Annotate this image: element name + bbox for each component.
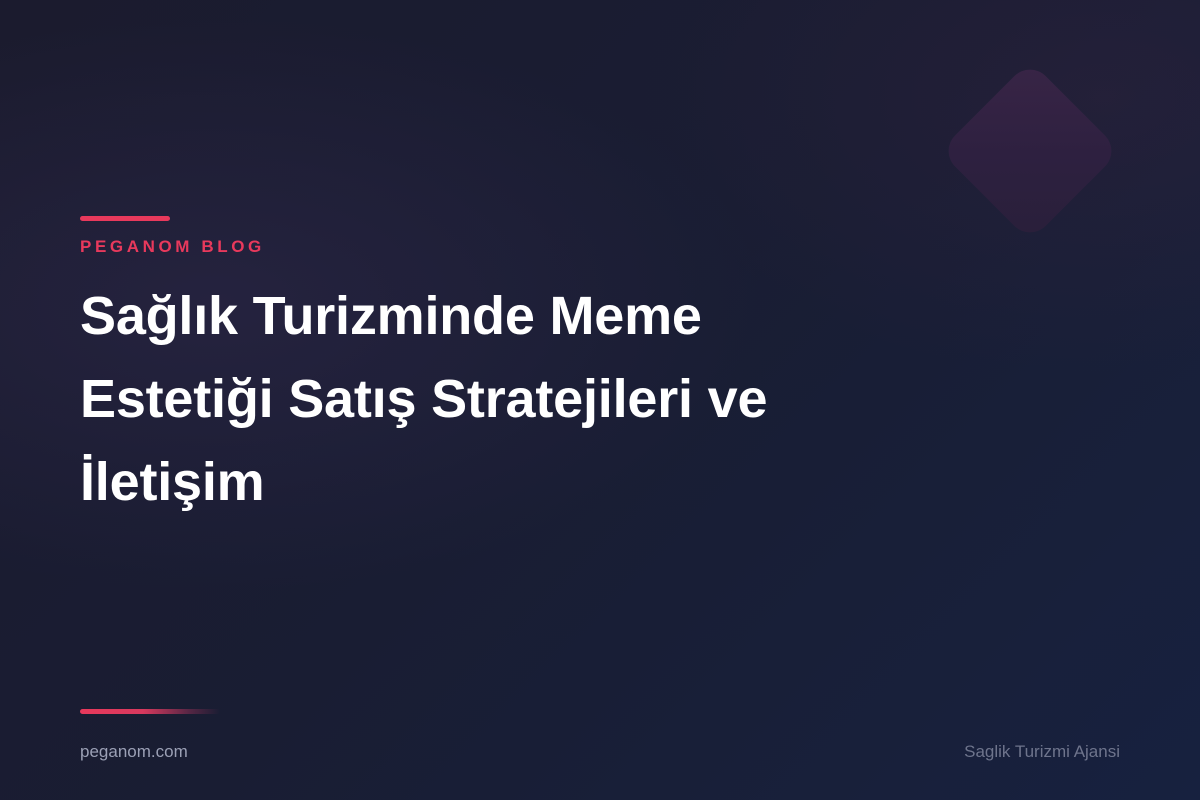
card-footer: peganom.com Saglik Turizmi Ajansi: [80, 709, 1120, 762]
footer-accent-bar: [80, 709, 220, 714]
blog-header-card: PEGANOM BLOG Sağlık Turizminde Meme Este…: [0, 0, 1200, 800]
eyebrow-accent-bar: [80, 216, 170, 221]
page-title: Sağlık Turizminde Meme Estetiği Satış St…: [80, 275, 870, 524]
site-domain-label: peganom.com: [80, 742, 188, 762]
brand-eyebrow-label: PEGANOM BLOG: [80, 237, 920, 257]
site-tagline-label: Saglik Turizmi Ajansi: [964, 742, 1120, 762]
decorative-diamond-shape: [939, 60, 1120, 241]
header-content: PEGANOM BLOG Sağlık Turizminde Meme Este…: [80, 216, 920, 524]
footer-row: peganom.com Saglik Turizmi Ajansi: [80, 742, 1120, 762]
